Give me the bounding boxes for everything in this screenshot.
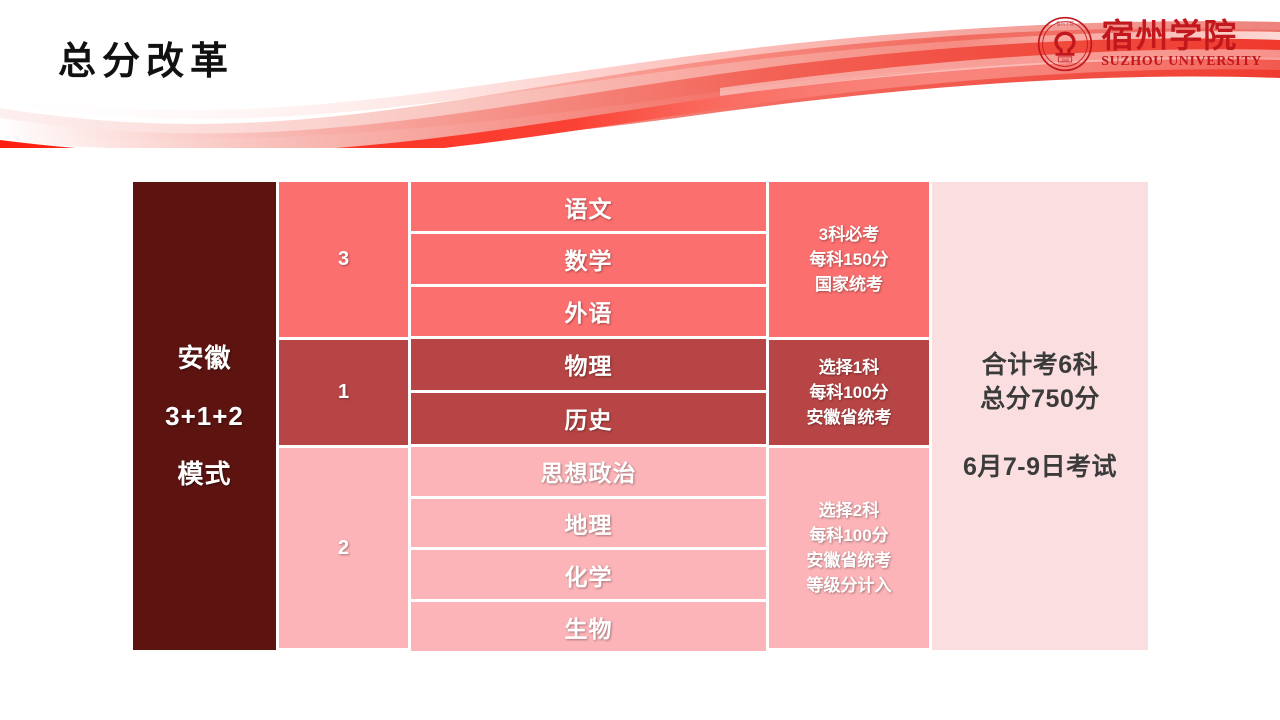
summary-column: 合计考6科 总分750分 6月7-9日考试 — [932, 182, 1148, 650]
svg-text:1949: 1949 — [1061, 58, 1069, 62]
group-count-cell: 2 — [279, 448, 408, 648]
rule-line: 每科100分 — [809, 380, 888, 405]
exam-model-table: 安徽 3+1+2 模式 3 1 2 语文 数学 外语 物理 历史 思想政治 地理… — [133, 182, 1148, 650]
subject-cell: 地理 — [411, 499, 766, 548]
rule-line: 每科150分 — [809, 247, 888, 272]
summary-line: 总分750分 — [980, 382, 1100, 416]
region-column: 安徽 3+1+2 模式 — [133, 182, 276, 650]
region-line-3: 模式 — [177, 459, 231, 489]
rules-column: 3科必考 每科150分 国家统考 选择1科 每科100分 安徽省统考 选择2科 … — [769, 182, 929, 650]
summary-block-totals: 合计考6科 总分750分 — [980, 348, 1100, 416]
subject-cell: 数学 — [411, 234, 766, 283]
rule-line: 国家统考 — [815, 272, 883, 297]
logo-wordmark: 宿州学院 SUZHOU UNIVERSITY — [1101, 19, 1262, 70]
subject-cell: 思想政治 — [411, 447, 766, 496]
group-count-cell: 1 — [279, 340, 408, 445]
page-title: 总分改革 — [58, 38, 234, 86]
region-line-2: 3+1+2 — [165, 401, 244, 431]
subject-cell: 外语 — [411, 287, 766, 336]
rule-cell: 3科必考 每科150分 国家统考 — [769, 182, 929, 337]
subject-cell: 物理 — [411, 339, 766, 390]
rule-line: 安徽省统考 — [807, 405, 892, 430]
rule-line: 选择1科 — [819, 355, 879, 380]
subject-column: 语文 数学 外语 物理 历史 思想政治 地理 化学 生物 — [411, 182, 766, 650]
rule-line: 3科必考 — [819, 222, 879, 247]
group-count-column: 3 1 2 — [279, 182, 408, 650]
subject-cell: 化学 — [411, 550, 766, 599]
slide-root: 总分改革 1949 宿州学院 宿州学院 SUZHOU UNIVERSITY 安徽… — [0, 0, 1280, 720]
logo-name-en: SUZHOU UNIVERSITY — [1101, 53, 1262, 70]
slide-header: 总分改革 1949 宿州学院 宿州学院 SUZHOU UNIVERSITY — [0, 0, 1280, 148]
summary-block-date: 6月7-9日考试 — [963, 450, 1117, 484]
rule-line: 选择2科 — [819, 498, 879, 523]
subject-cell: 语文 — [411, 182, 766, 231]
summary-line: 合计考6科 — [980, 348, 1100, 382]
rule-line: 每科100分 — [809, 523, 888, 548]
rule-line: 安徽省统考 — [807, 548, 892, 573]
group-count-cell: 3 — [279, 182, 408, 337]
subject-cell: 生物 — [411, 602, 766, 651]
university-seal-icon: 1949 宿州学院 — [1037, 16, 1093, 72]
rule-cell: 选择1科 每科100分 安徽省统考 — [769, 340, 929, 445]
university-logo: 1949 宿州学院 宿州学院 SUZHOU UNIVERSITY — [1037, 14, 1262, 74]
region-line-1: 安徽 — [177, 343, 231, 373]
summary-line: 6月7-9日考试 — [963, 450, 1117, 484]
svg-text:宿州学院: 宿州学院 — [1056, 20, 1074, 27]
rule-line: 等级分计入 — [807, 573, 892, 598]
rule-cell: 选择2科 每科100分 安徽省统考 等级分计入 — [769, 448, 929, 648]
subject-cell: 历史 — [411, 393, 766, 444]
logo-name-cn: 宿州学院 — [1101, 19, 1262, 53]
